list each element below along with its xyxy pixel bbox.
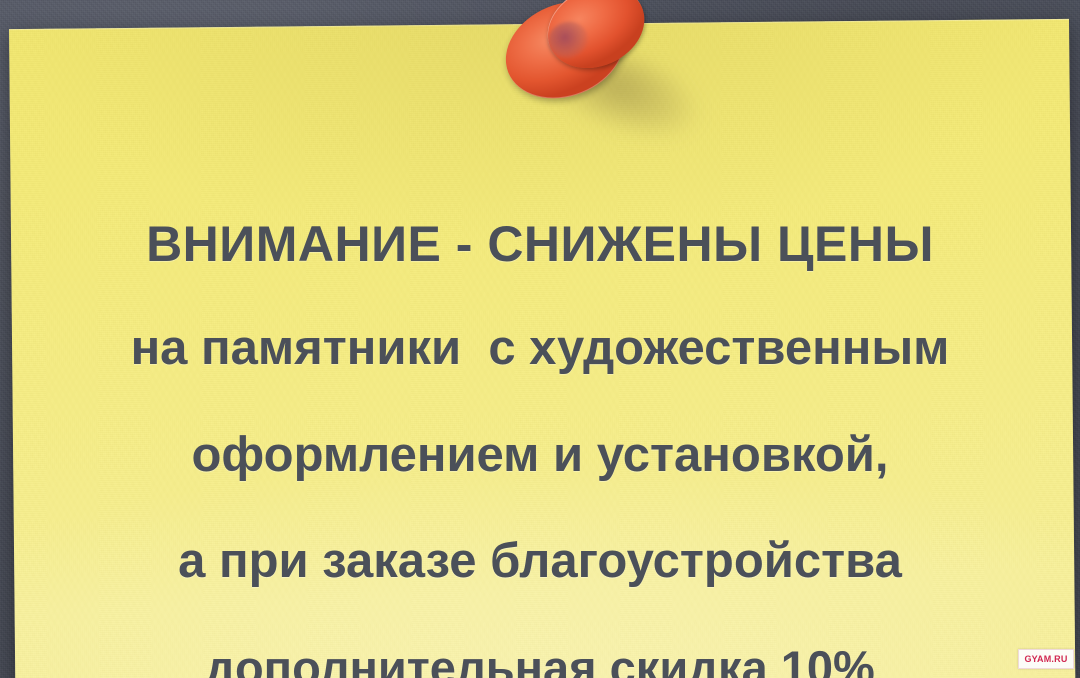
screenshot-root: ВНИМАНИЕ - СНИЖЕНЫ ЦЕНЫ на памятники с х… [0,0,1080,678]
announcement-line-1: ВНИМАНИЕ - СНИЖЕНЫ ЦЕНЫ [0,219,1080,270]
watermark-badge: GYAM.RU [1018,649,1074,669]
push-pin-icon [494,0,654,116]
announcement-line-3: оформлением и установкой, [0,431,1080,481]
announcement-line-2: на памятники с художественным [0,324,1080,374]
announcement-line-5: дополнительная скидка 10% [0,644,1080,678]
watermark-label: GYAM.RU [1024,655,1067,664]
announcement-text-block: ВНИМАНИЕ - СНИЖЕНЫ ЦЕНЫ на памятники с х… [0,186,1080,678]
announcement-line-4: а при заказе благоустройства [0,537,1080,587]
